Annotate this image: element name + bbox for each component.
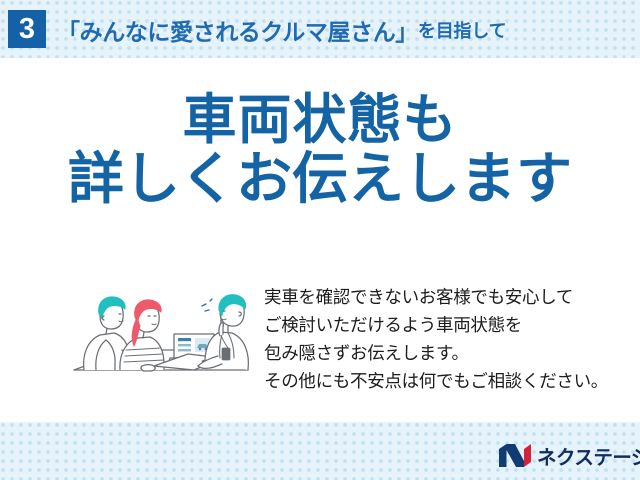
body-copy-line: ご検討いただけるよう車両状態を	[264, 311, 620, 339]
section-number-badge: 3	[8, 10, 46, 48]
headline-line-1: 車両状態も	[0, 92, 640, 149]
body-copy-line: その他にも不安点は何でもご相談ください。	[264, 367, 620, 395]
section-header-title: 「みんなに愛されるクルマ屋さん」 を目指して	[57, 12, 506, 48]
body-copy-line: 実車を確認できないお客様でも安心して	[264, 283, 620, 311]
body-copy: 実車を確認できないお客様でも安心して ご検討いただけるよう車両状態を 包み隠さず…	[264, 283, 620, 395]
brand-name: ネクステージ	[537, 441, 640, 470]
advertisement-panel: 3 「みんなに愛されるクルマ屋さん」 を目指して 車両状態も 詳しくお伝えします	[0, 0, 640, 480]
headline-line-2: 詳しくお伝えします	[0, 149, 640, 208]
section-header-tail-text: を目指して	[418, 17, 506, 43]
section-header-quoted-text: 「みんなに愛されるクルマ屋さん」	[57, 13, 418, 47]
consultation-illustration	[62, 278, 254, 390]
brand-logo: ネクステージ	[498, 439, 622, 471]
nextage-n-mark	[498, 443, 532, 468]
main-headline: 車両状態も 詳しくお伝えします	[0, 92, 640, 209]
body-copy-line: 包み隠さずお伝えします。	[264, 339, 620, 367]
